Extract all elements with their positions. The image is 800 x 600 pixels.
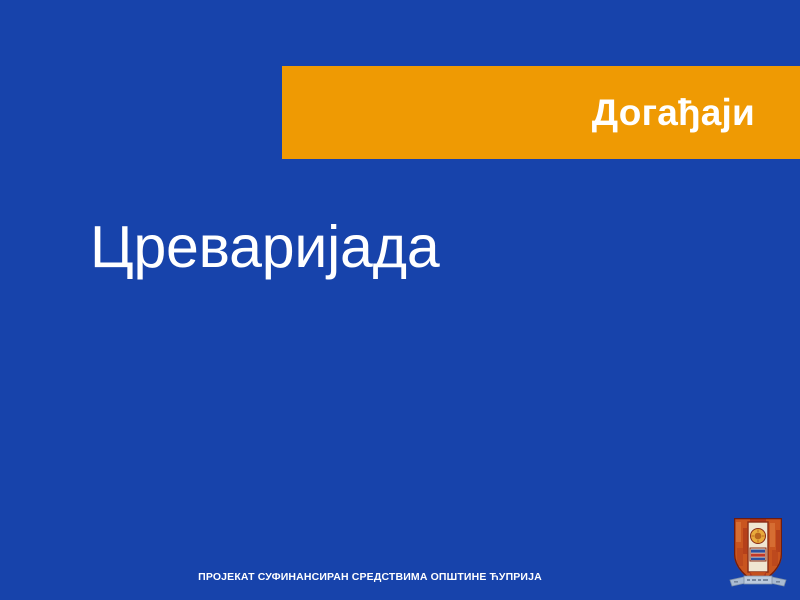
header-banner: Догађаји <box>282 66 800 159</box>
page-title: Цреваријада <box>90 216 440 280</box>
coat-of-arms-icon <box>726 514 790 592</box>
presentation-slide: Догађаји Цреваријада ПРОЈЕКАТ СУФИНАНСИР… <box>0 0 800 600</box>
header-title: Догађаји <box>592 94 755 131</box>
footer-credit-text: ПРОЈЕКАТ СУФИНАНСИРАН СРЕДСТВИМА ОПШТИНЕ… <box>0 571 800 583</box>
